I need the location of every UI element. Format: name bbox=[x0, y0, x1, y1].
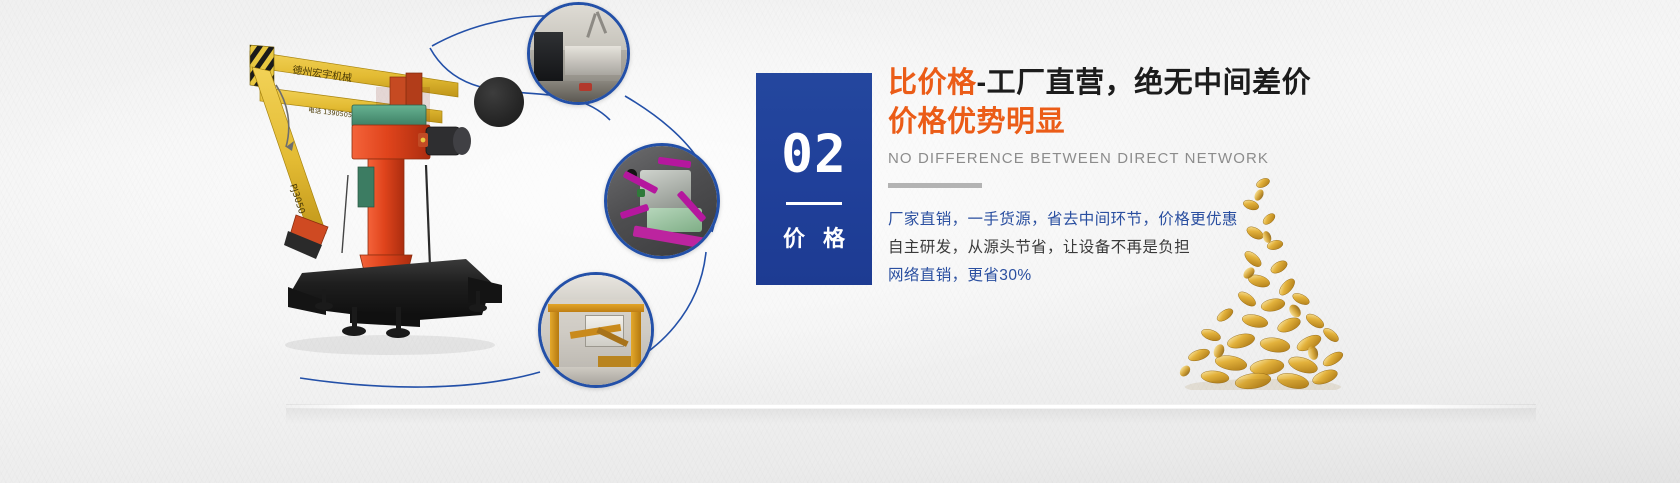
step-number: 02 bbox=[756, 128, 872, 181]
card-divider bbox=[786, 202, 842, 205]
list-item: 厂家直销，一手货源，省去中间环节，价格更优惠 bbox=[888, 206, 1568, 234]
english-subtitle: NO DIFFERENCE BETWEEN DIRECT NETWORK bbox=[888, 150, 1568, 167]
price-banner: 德州宏宇机械 电话 13905050 PJ3050 bbox=[0, 0, 1680, 483]
workshop-gantry-photo bbox=[538, 272, 654, 388]
list-item: 自主研发，从源头节省，让设备不再是负担 bbox=[888, 234, 1568, 262]
step-label: 价 格 bbox=[756, 221, 872, 253]
machine-shop-photo bbox=[527, 2, 630, 105]
copy-block: 比价格-工厂直营，绝无中间差价 价格优势明显 NO DIFFERENCE BET… bbox=[888, 64, 1568, 290]
bullet-list: 厂家直销，一手货源，省去中间环节，价格更优惠 自主研发，从源头节省，让设备不再是… bbox=[888, 206, 1568, 290]
list-item: 网络直销，更省30% bbox=[888, 262, 1568, 290]
pneumatic-valve-photo bbox=[604, 143, 720, 259]
headline-highlight: 比价格 bbox=[888, 67, 977, 99]
headline-rest: -工厂直营，绝无中间差价 bbox=[977, 67, 1312, 99]
headline-line-1: 比价格-工厂直营，绝无中间差价 bbox=[888, 64, 1568, 103]
copy-divider bbox=[888, 183, 982, 188]
dark-circle-accent bbox=[474, 77, 524, 127]
step-number-card: 02 价 格 bbox=[756, 73, 872, 285]
headline-line-2: 价格优势明显 bbox=[888, 105, 1568, 140]
balance-crane-illustration: 德州宏宇机械 电话 13905050 PJ3050 bbox=[230, 15, 530, 375]
